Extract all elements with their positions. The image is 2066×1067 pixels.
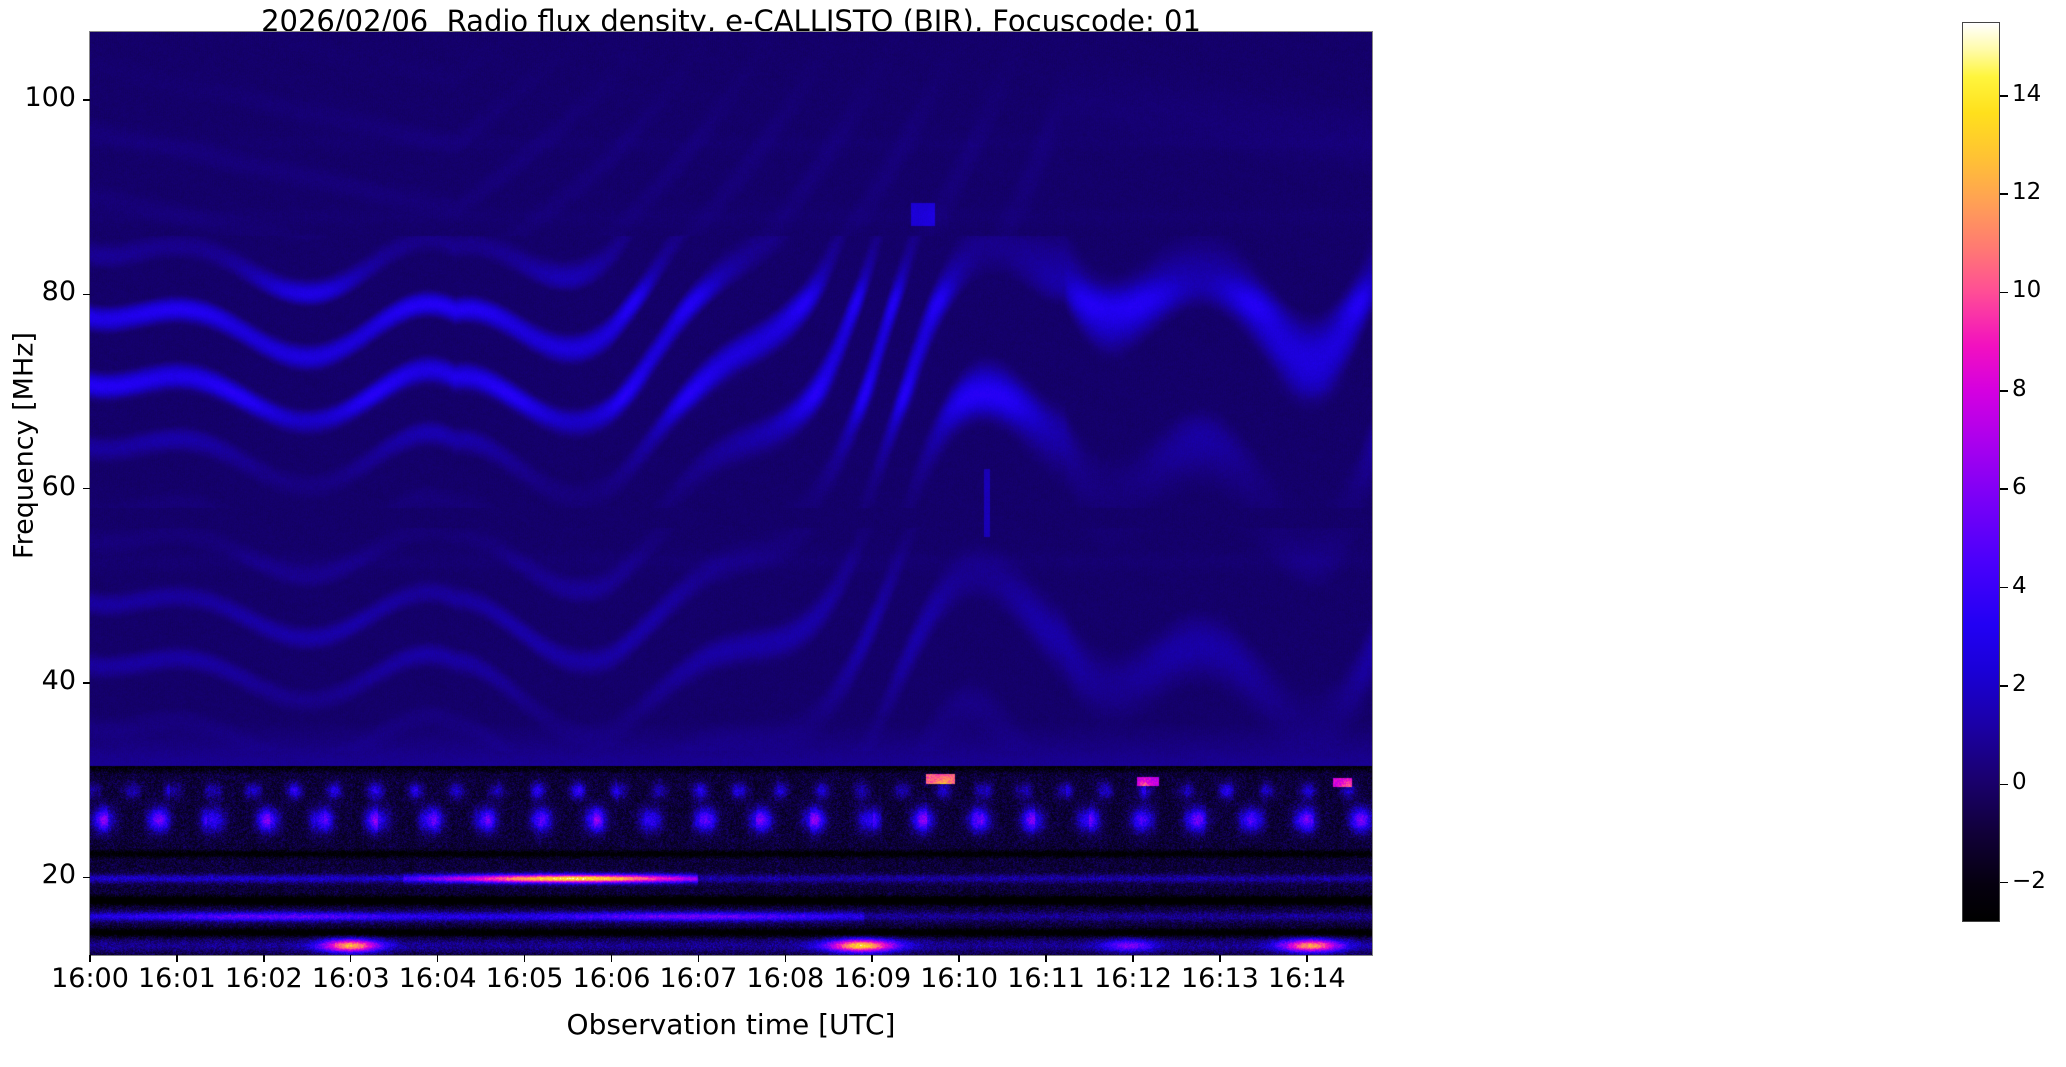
colorbar-tick-label: 8 [2012,376,2027,402]
x-tick-label: 16:00 [51,963,129,994]
y-tick-mark [83,488,90,490]
x-tick-mark [1045,955,1047,962]
x-tick-label: 16:03 [312,963,390,994]
x-tick-label: 16:04 [399,963,477,994]
colorbar-tick-mark [2000,390,2008,392]
colorbar-tick-label: 2 [2012,671,2027,697]
colorbar-tick-label: −2 [2012,868,2046,894]
x-tick-mark [958,955,960,962]
x-tick-mark [871,955,873,962]
colorbar-tick-label: 14 [2012,81,2041,107]
colorbar-tick-mark [2000,193,2008,195]
x-tick-label: 16:09 [833,963,911,994]
colorbar-tick-mark [2000,882,2008,884]
x-tick-label: 16:13 [1181,963,1259,994]
y-tick-label: 100 [0,82,76,113]
colorbar-tick-mark [2000,292,2008,294]
x-tick-label: 16:10 [920,963,998,994]
x-tick-mark [176,955,178,962]
x-tick-mark [524,955,526,962]
x-tick-label: 16:11 [1007,963,1085,994]
x-tick-mark [698,955,700,962]
x-tick-label: 16:05 [486,963,564,994]
spectrogram-figure: 2026/02/06 Radio flux density, e-CALLIST… [0,0,2066,1067]
colorbar-tick-mark [2000,685,2008,687]
x-tick-mark [611,955,613,962]
colorbar-tick-label: 12 [2012,179,2041,205]
colorbar-tick-label: 4 [2012,573,2027,599]
x-tick-label: 16:08 [746,963,824,994]
y-tick-mark [83,99,90,101]
spectrogram-canvas [90,32,1372,955]
colorbar-tick-label: 6 [2012,474,2027,500]
y-tick-mark [83,682,90,684]
colorbar-tick-mark [2000,587,2008,589]
colorbar-tick-label: 0 [2012,769,2027,795]
x-tick-label: 16:01 [138,963,216,994]
x-axis-label: Observation time [UTC] [90,1008,1372,1041]
x-tick-mark [350,955,352,962]
colorbar-tick-label: 10 [2012,277,2041,303]
colorbar [1962,22,2000,922]
x-tick-label: 16:07 [660,963,738,994]
spectrogram-plot-area [90,32,1372,955]
x-tick-mark [263,955,265,962]
colorbar-tick-mark [2000,784,2008,786]
x-tick-mark [785,955,787,962]
x-tick-mark [1306,955,1308,962]
x-tick-mark [1132,955,1134,962]
x-tick-mark [437,955,439,962]
y-tick-label: 20 [0,859,76,890]
x-tick-label: 16:14 [1268,963,1346,994]
y-tick-mark [83,294,90,296]
colorbar-tick-mark [2000,488,2008,490]
x-tick-label: 16:06 [573,963,651,994]
y-tick-label: 40 [0,665,76,696]
colorbar-tick-mark [2000,95,2008,97]
x-tick-label: 16:12 [1094,963,1172,994]
y-tick-label: 60 [0,471,76,502]
x-tick-label: 16:02 [225,963,303,994]
x-tick-mark [1219,955,1221,962]
y-tick-label: 80 [0,276,76,307]
y-tick-mark [83,877,90,879]
x-tick-mark [89,955,91,962]
